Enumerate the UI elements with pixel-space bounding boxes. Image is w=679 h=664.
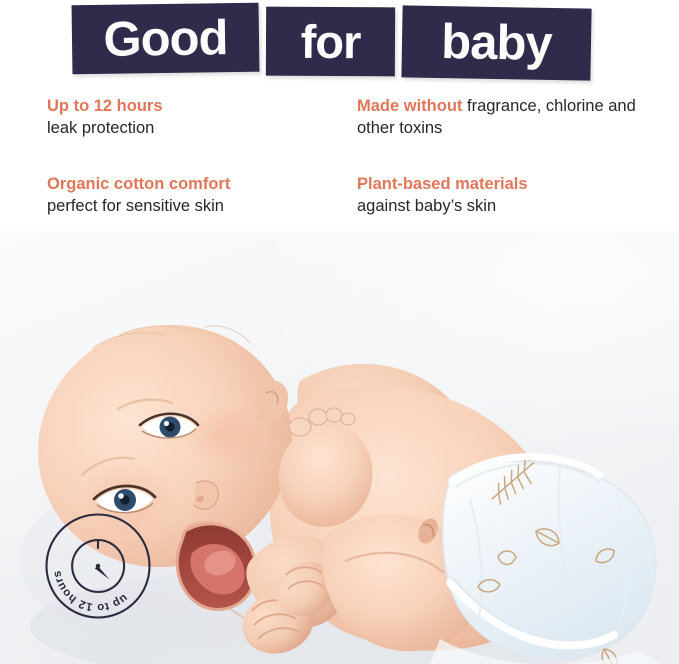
headline-word-for-label: for (301, 14, 361, 69)
product-feature-panel: Good for baby Up to 12 hours leak protec… (0, 0, 679, 664)
headline-word-good-label: Good (103, 10, 228, 68)
feature-body: leak protection (47, 119, 154, 137)
headline-word-baby: baby (401, 5, 591, 80)
timer-needle (95, 566, 110, 580)
feature-item-organic-cotton: Organic cotton comfort perfect for sensi… (47, 174, 337, 218)
feature-headline: Organic cotton comfort (47, 174, 337, 196)
feature-item-made-without: Made without fragrance, chlorine and oth… (357, 96, 647, 140)
feature-headline: Plant-based materials (357, 174, 647, 196)
feature-headline: Made without (357, 97, 462, 115)
feature-list: Up to 12 hours leak protection Made with… (47, 96, 657, 226)
feature-item-plant-based: Plant-based materials against baby’s ski… (357, 174, 647, 218)
headline-banner: Good for baby (0, 0, 679, 92)
feature-item-leak-protection: Up to 12 hours leak protection (47, 96, 337, 140)
feature-headline: Up to 12 hours (47, 96, 337, 118)
protection-badge: up to 12 hours protection (44, 512, 152, 620)
headline-word-good: Good (72, 3, 260, 75)
headline-word-baby-label: baby (441, 14, 552, 72)
feature-body: perfect for sensitive skin (47, 197, 224, 215)
feature-body: against baby’s skin (357, 197, 496, 215)
headline-word-for: for (266, 7, 395, 77)
